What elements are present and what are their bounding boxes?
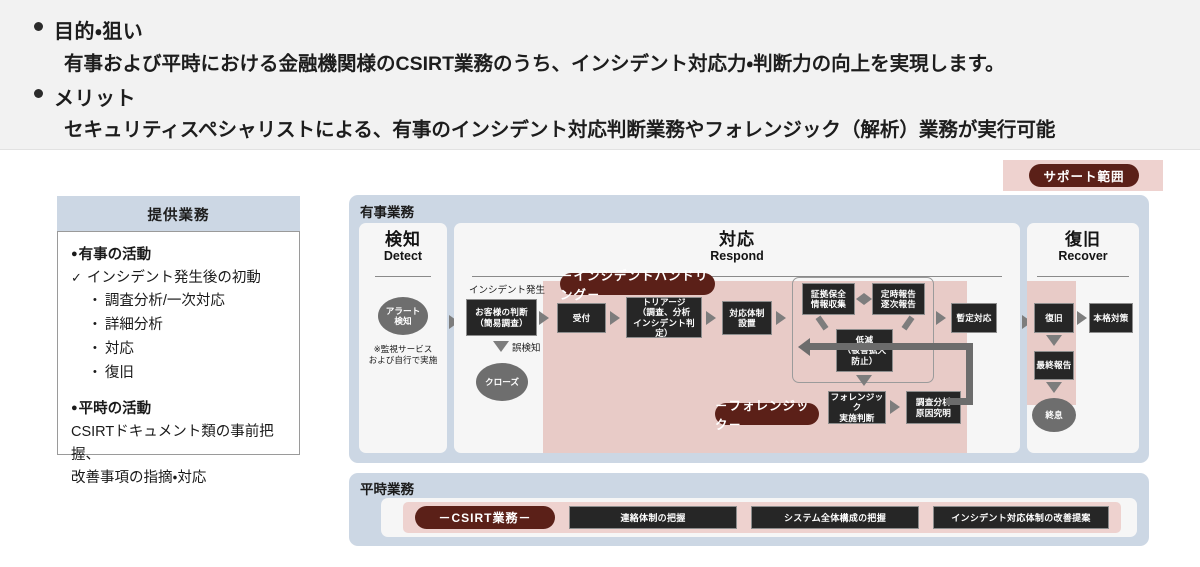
header-item-2-title: メリット xyxy=(54,89,136,109)
arrow-evidence-report-bidirectional-icon xyxy=(856,293,872,305)
node-evidence-preservation: 証拠保全情報収集 xyxy=(802,283,855,315)
dot-icon: • xyxy=(93,366,97,378)
dot-icon: • xyxy=(93,318,97,330)
arrow-reception-to-triage-icon xyxy=(610,311,620,325)
header-item-2: メリット xyxy=(34,89,136,109)
node-provisional-response: 暫定対応 xyxy=(951,303,997,333)
peacetime-inner-panel: －CSIRT業務－ 連絡体制の把握 システム全体構成の把握 インシデント対応体制… xyxy=(381,498,1137,537)
provided-services-panel: 提供業務 ●有事の活動 ✓インシデント発生後の初動 •調査分析/一次対応 •詳細… xyxy=(57,196,300,455)
node-close: クローズ xyxy=(476,363,528,401)
node-customer-judgement-l1: お客様の判断 xyxy=(475,307,528,317)
list-item: •対応 xyxy=(93,337,289,361)
stage-respond-jp: 対応 xyxy=(454,230,1020,249)
arrow-false-detect-icon xyxy=(493,341,509,352)
forensic-badge: －フォレンジック－ xyxy=(715,403,819,425)
stage-recover-rule xyxy=(1037,276,1129,277)
header-item-1: 目的・狙い xyxy=(34,22,143,42)
csirt-operations-badge: －CSIRT業務－ xyxy=(415,506,555,529)
node-forensic-decision-l1: フォレンジック xyxy=(831,392,884,413)
node-evidence-l1: 証拠保全 xyxy=(811,289,846,299)
node-report-l2: 逐次報告 xyxy=(881,299,916,309)
filled-circle-icon: ● xyxy=(71,248,78,260)
caption-false-detect: 誤検知 xyxy=(512,343,541,355)
feedback-arrow-top xyxy=(946,343,973,350)
stage-recover-jp: 復旧 xyxy=(1027,230,1139,249)
header-item-2-body-row: セキュリティスペシャリストによる、有事のインシデント対応判断業務やフォレンジック… xyxy=(64,119,1055,141)
node-final-report: 最終報告 xyxy=(1034,351,1074,380)
node-customer-judgement: お客様の判断（簡易調査） xyxy=(466,299,537,336)
filled-circle-icon: ● xyxy=(71,402,78,414)
feedback-arrow-bottom xyxy=(946,398,973,405)
provided-services-body: ●有事の活動 ✓インシデント発生後の初動 •調査分析/一次対応 •詳細分析 •対… xyxy=(57,231,300,455)
bullet-dot-icon xyxy=(34,89,43,98)
arrow-restore-to-final-report-icon xyxy=(1046,335,1062,346)
emergency-activities-title: ●有事の活動 xyxy=(71,244,289,265)
list-item: •復旧 xyxy=(93,361,289,385)
emergency-activities-check: ✓インシデント発生後の初動 xyxy=(71,267,289,289)
emergency-operations-label: 有事業務 xyxy=(360,201,414,221)
peacetime-activities-title: ●平時の活動 xyxy=(71,398,289,419)
detect-note-l1: ※監視サービス xyxy=(363,344,443,355)
node-periodic-report: 定時報告逐次報告 xyxy=(872,283,925,315)
node-triage-l3: インシデント判定） xyxy=(633,318,695,339)
header-item-1-body-row: 有事および平時における金融機関様のCSIRT業務のうち、インシデント対応力・判断… xyxy=(64,53,1005,75)
peacetime-node-2: システム全体構成の把握 xyxy=(751,506,919,529)
node-forensic-decision: フォレンジック実施判断 xyxy=(828,391,886,424)
peacetime-activities-line1: CSIRTドキュメント類の事前把握、 xyxy=(71,421,289,467)
node-closure: 終息 xyxy=(1032,398,1076,432)
arrow-triage-to-structure-icon xyxy=(706,311,716,325)
header-item-2-body: セキュリティスペシャリストによる、有事のインシデント対応判断業務やフォレンジック… xyxy=(64,119,1055,141)
node-response-structure-l1: 対応体制 xyxy=(729,308,764,318)
detect-note: ※監視サービス および自行で実施 xyxy=(363,344,443,366)
header-item-1-title: 目的・狙い xyxy=(54,22,143,42)
detect-note-l2: および自行で実施 xyxy=(363,355,443,366)
support-range-badge: サポート範囲 xyxy=(1029,164,1139,187)
node-report-l1: 定時報告 xyxy=(881,289,916,299)
feedback-arrow-horizontal xyxy=(809,343,949,350)
peacetime-node-1: 連絡体制の把握 xyxy=(569,506,737,529)
stage-detect-en: Detect xyxy=(359,249,447,264)
slide-root: 目的・狙い 有事および平時における金融機関様のCSIRT業務のうち、インシデント… xyxy=(0,0,1200,567)
node-root-cause-analysis: 調査分析原因究明 xyxy=(906,391,961,424)
node-response-structure-l2: 設置 xyxy=(738,318,756,328)
node-full-measure: 本格対策 xyxy=(1089,303,1133,333)
node-customer-judgement-l2: （簡易調査） xyxy=(475,318,528,328)
stage-respond-title: 対応 Respond xyxy=(454,230,1020,264)
stage-recover-en: Recover xyxy=(1027,249,1139,264)
node-alert-detect-l1: アラート xyxy=(386,306,420,316)
peacetime-operations-label: 平時業務 xyxy=(360,478,414,498)
node-evidence-l2: 情報収集 xyxy=(811,299,846,309)
peacetime-activities-line2: 改善事項の指摘・対応 xyxy=(71,467,289,490)
dot-icon: • xyxy=(93,294,97,306)
arrow-final-report-to-closure-icon xyxy=(1046,382,1062,393)
peacetime-operations-container: 平時業務 －CSIRT業務－ 連絡体制の把握 システム全体構成の把握 インシデン… xyxy=(349,473,1149,546)
stage-recover-title: 復旧 Recover xyxy=(1027,230,1139,264)
provided-services-heading: 提供業務 xyxy=(57,196,300,231)
node-restore: 復旧 xyxy=(1034,303,1074,333)
arrow-structure-to-group-icon xyxy=(776,311,786,325)
node-alert-detect: アラート検知 xyxy=(378,297,428,335)
node-response-structure: 対応体制設置 xyxy=(722,301,772,335)
arrow-mitigation-to-forensic-icon xyxy=(856,375,872,386)
node-triage: トリアージ（調査、分析インシデント判定） xyxy=(626,297,702,338)
arrow-group-to-provisional-icon xyxy=(936,311,946,325)
feedback-arrow-head-icon xyxy=(798,338,810,356)
spacer xyxy=(71,385,289,398)
stage-detect-title: 検知 Detect xyxy=(359,230,447,264)
stage-detect: 検知 Detect アラート検知 ※監視サービス および自行で実施 xyxy=(359,223,447,453)
node-forensic-decision-l2: 実施判断 xyxy=(839,413,874,423)
incident-handling-badge: －インシデントハンドリング－ xyxy=(560,273,715,295)
node-root-cause-l2: 原因究明 xyxy=(916,408,951,418)
node-triage-l2: （調査、分析 xyxy=(638,307,691,317)
node-mitigation: 低減（被害拡大防止） xyxy=(836,329,893,372)
stage-recover: 復旧 Recover 復旧 本格対策 最終報告 終息 xyxy=(1027,223,1139,453)
bullet-dot-icon xyxy=(34,22,43,31)
node-mitigation-l3: 防止） xyxy=(851,356,877,366)
caption-incident-occurrence: インシデント発生 xyxy=(469,285,545,297)
peacetime-node-3: インシデント対応体制の改善提案 xyxy=(933,506,1109,529)
stage-respond-en: Respond xyxy=(454,249,1020,264)
list-item: •詳細分析 xyxy=(93,313,289,337)
dot-icon: • xyxy=(93,342,97,354)
stage-detect-rule xyxy=(375,276,431,277)
list-item: •調査分析/一次対応 xyxy=(93,289,289,313)
arrow-restore-to-full-measure-icon xyxy=(1077,311,1087,325)
node-reception: 受付 xyxy=(557,303,606,333)
header-band: 目的・狙い 有事および平時における金融機関様のCSIRT業務のうち、インシデント… xyxy=(0,0,1200,150)
support-range-band: サポート範囲 xyxy=(1003,160,1163,191)
arrow-forensic-to-rootcause-icon xyxy=(890,400,900,414)
node-alert-detect-l2: 検知 xyxy=(394,316,411,326)
arrow-judge-to-reception-icon xyxy=(539,311,549,325)
stage-detect-jp: 検知 xyxy=(359,230,447,249)
feedback-arrow-vertical xyxy=(966,343,973,405)
check-icon: ✓ xyxy=(71,270,82,285)
header-item-1-body: 有事および平時における金融機関様のCSIRT業務のうち、インシデント対応力・判断… xyxy=(64,53,1005,75)
